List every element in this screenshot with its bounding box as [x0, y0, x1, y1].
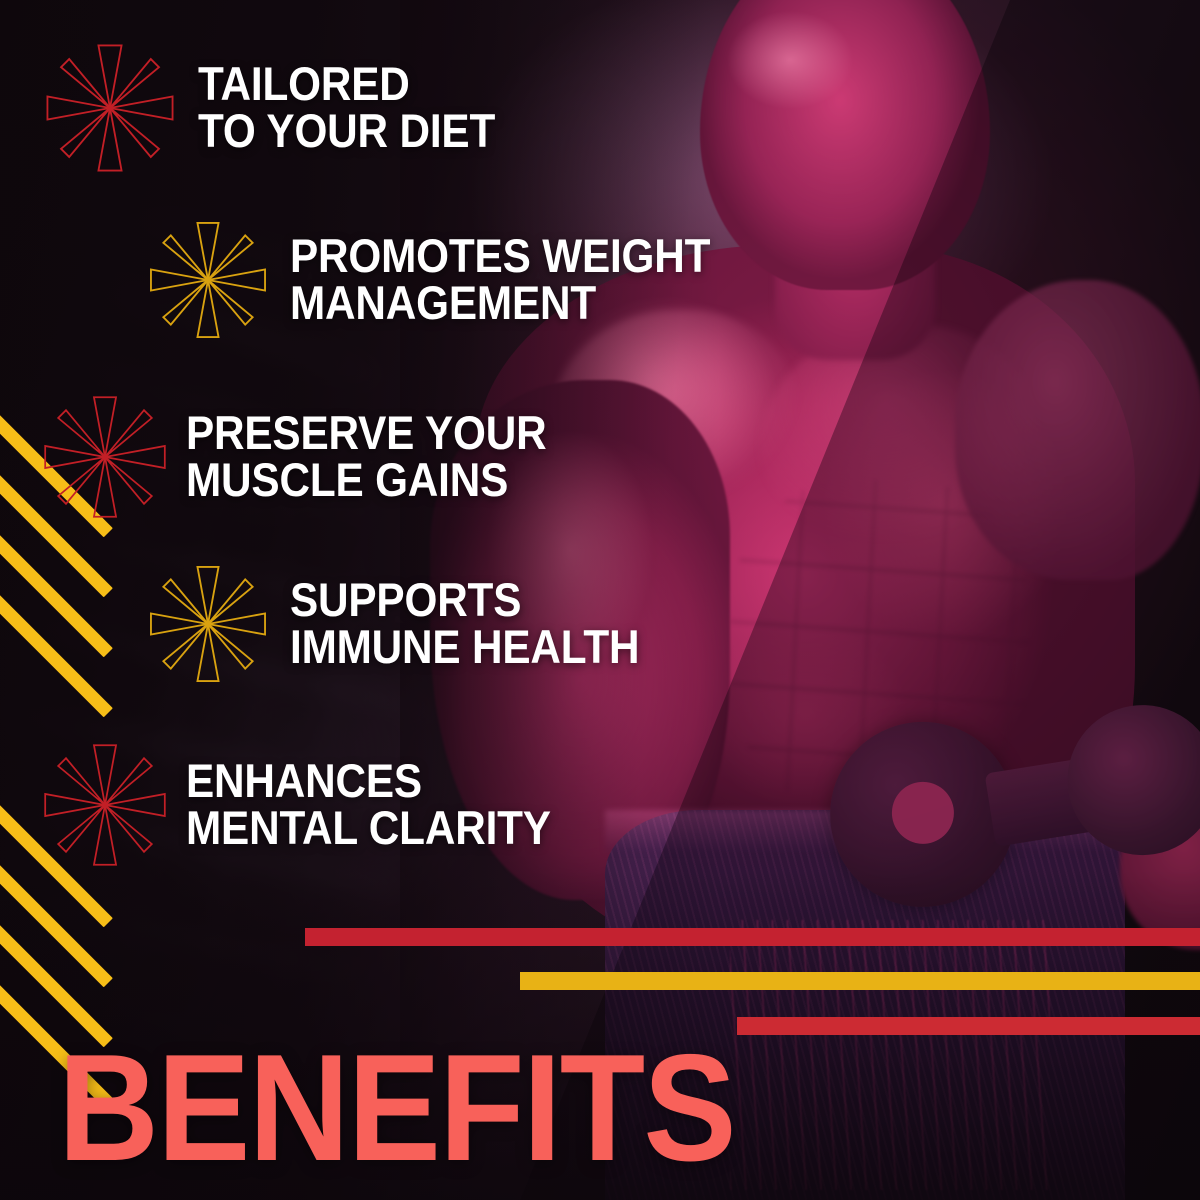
page-title: BENEFITS	[58, 1032, 735, 1184]
benefit-row-1: TAILORED TO YOUR DIET	[42, 40, 528, 176]
benefit-row-2: PROMOTES WEIGHT MANAGEMENT	[146, 218, 757, 342]
benefits-poster: TAILORED TO YOUR DIET PROMOTES WEIGHT MA…	[0, 0, 1200, 1200]
asterisk-icon	[42, 40, 178, 176]
benefit-row-4: SUPPORTS IMMUNE HEALTH	[146, 562, 678, 686]
asterisk-icon	[40, 392, 170, 522]
benefit-row-5: ENHANCES MENTAL CLARITY	[40, 740, 591, 870]
benefit-label: TAILORED TO YOUR DIET	[198, 61, 495, 154]
benefit-label: PRESERVE YOUR MUSCLE GAINS	[186, 410, 546, 503]
benefit-label: PROMOTES WEIGHT MANAGEMENT	[290, 233, 710, 326]
bar-red-top	[305, 928, 1200, 946]
benefit-row-3: PRESERVE YOUR MUSCLE GAINS	[40, 392, 587, 522]
bar-yellow-mid	[520, 972, 1200, 990]
asterisk-icon	[40, 740, 170, 870]
bar-red-bottom	[737, 1017, 1200, 1035]
asterisk-icon	[146, 218, 270, 342]
benefit-label: SUPPORTS IMMUNE HEALTH	[290, 577, 639, 670]
asterisk-icon	[146, 562, 270, 686]
benefit-label: ENHANCES MENTAL CLARITY	[186, 758, 551, 851]
